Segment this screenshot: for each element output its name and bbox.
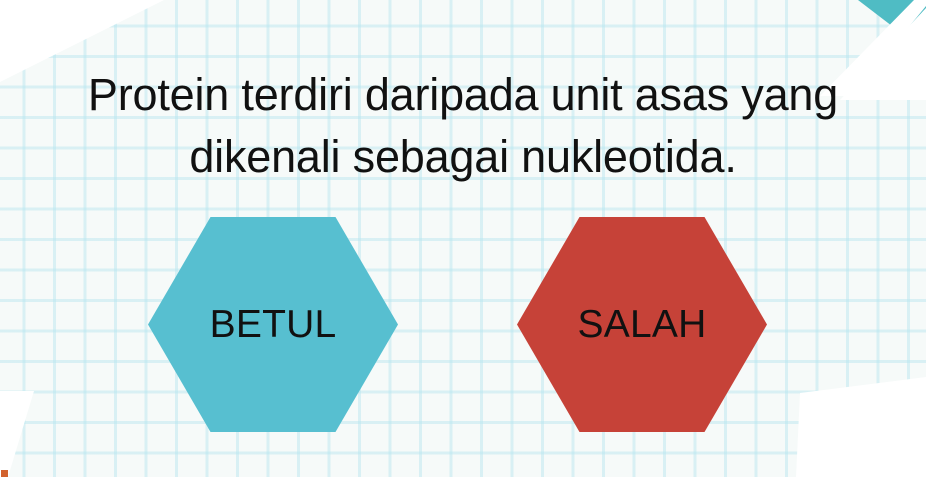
answer-label-betul: BETUL xyxy=(210,305,337,344)
quiz-slide: Protein terdiri daripada unit asas yang … xyxy=(0,0,926,477)
answer-label-salah: SALAH xyxy=(578,305,707,344)
question-text: Protein terdiri daripada unit asas yang … xyxy=(0,64,926,188)
